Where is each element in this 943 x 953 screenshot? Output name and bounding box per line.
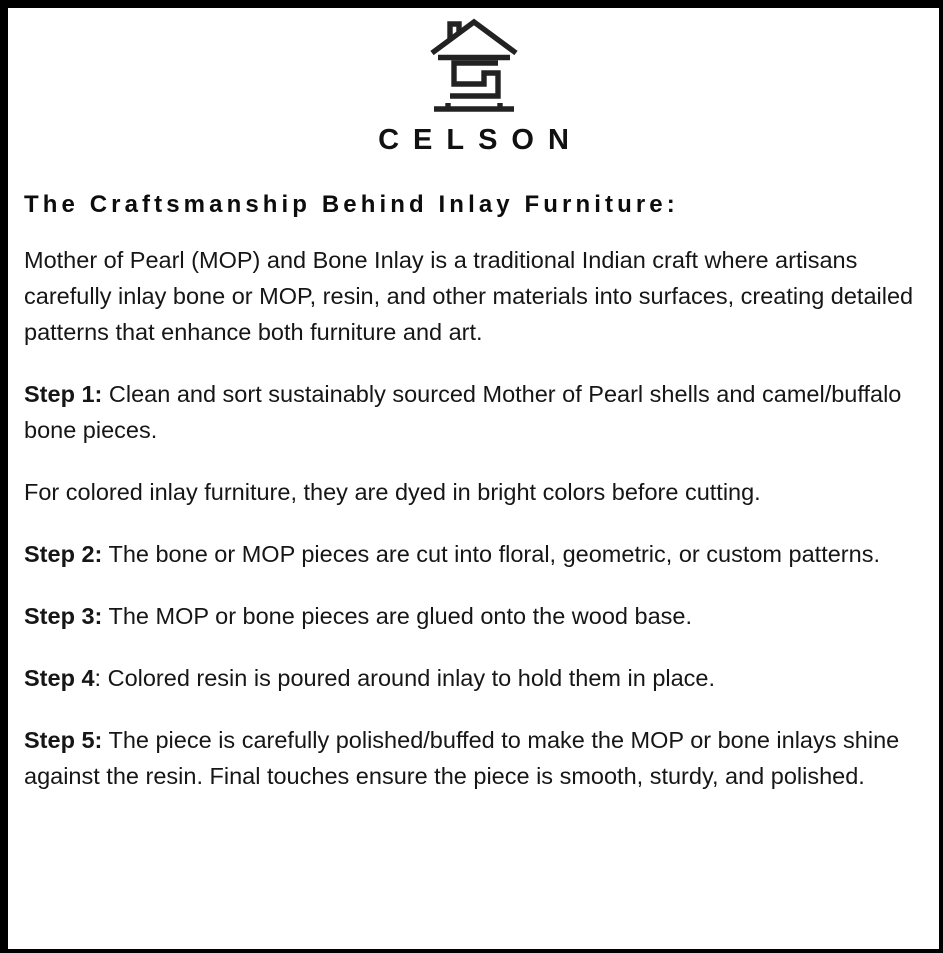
step-label: Step 4 — [24, 665, 95, 691]
paragraph-step-2: Step 2: The bone or MOP pieces are cut i… — [24, 536, 914, 572]
paragraph-step-5: Step 5: The piece is carefully polished/… — [24, 722, 914, 794]
step-label: Step 1: — [24, 381, 102, 407]
poster-card: CELSON The Craftsmanship Behind Inlay Fu… — [0, 0, 943, 953]
step-label: Step 2: — [24, 541, 102, 567]
paragraph-text: Clean and sort sustainably sourced Mothe… — [24, 381, 901, 443]
paragraph-text: The MOP or bone pieces are glued onto th… — [102, 603, 692, 629]
house-logo-icon — [428, 16, 520, 120]
paragraph-text: The piece is carefully polished/buffed t… — [24, 727, 899, 789]
paragraph-step-3: Step 3: The MOP or bone pieces are glued… — [24, 598, 914, 634]
step-label: Step 5: — [24, 727, 102, 753]
paragraph-text: Mother of Pearl (MOP) and Bone Inlay is … — [24, 247, 913, 345]
step-label: Step 3: — [24, 603, 102, 629]
paragraph-step-1: Step 1: Clean and sort sustainably sourc… — [24, 376, 914, 448]
paragraph-step-4: Step 4: Colored resin is poured around i… — [24, 660, 914, 696]
article-body: Mother of Pearl (MOP) and Bone Inlay is … — [24, 220, 931, 794]
paragraph-text: The bone or MOP pieces are cut into flor… — [102, 541, 880, 567]
poster-inner: CELSON The Craftsmanship Behind Inlay Fu… — [8, 8, 939, 949]
paragraph-intro: Mother of Pearl (MOP) and Bone Inlay is … — [24, 242, 914, 350]
brand-wordmark: CELSON — [16, 126, 931, 155]
paragraph-dye-note: For colored inlay furniture, they are dy… — [24, 474, 914, 510]
page-title: The Craftsmanship Behind Inlay Furniture… — [24, 191, 931, 220]
paragraph-text: Colored resin is poured around inlay to … — [101, 665, 715, 691]
brand-block: CELSON — [16, 12, 931, 155]
paragraph-text: For colored inlay furniture, they are dy… — [24, 479, 761, 505]
